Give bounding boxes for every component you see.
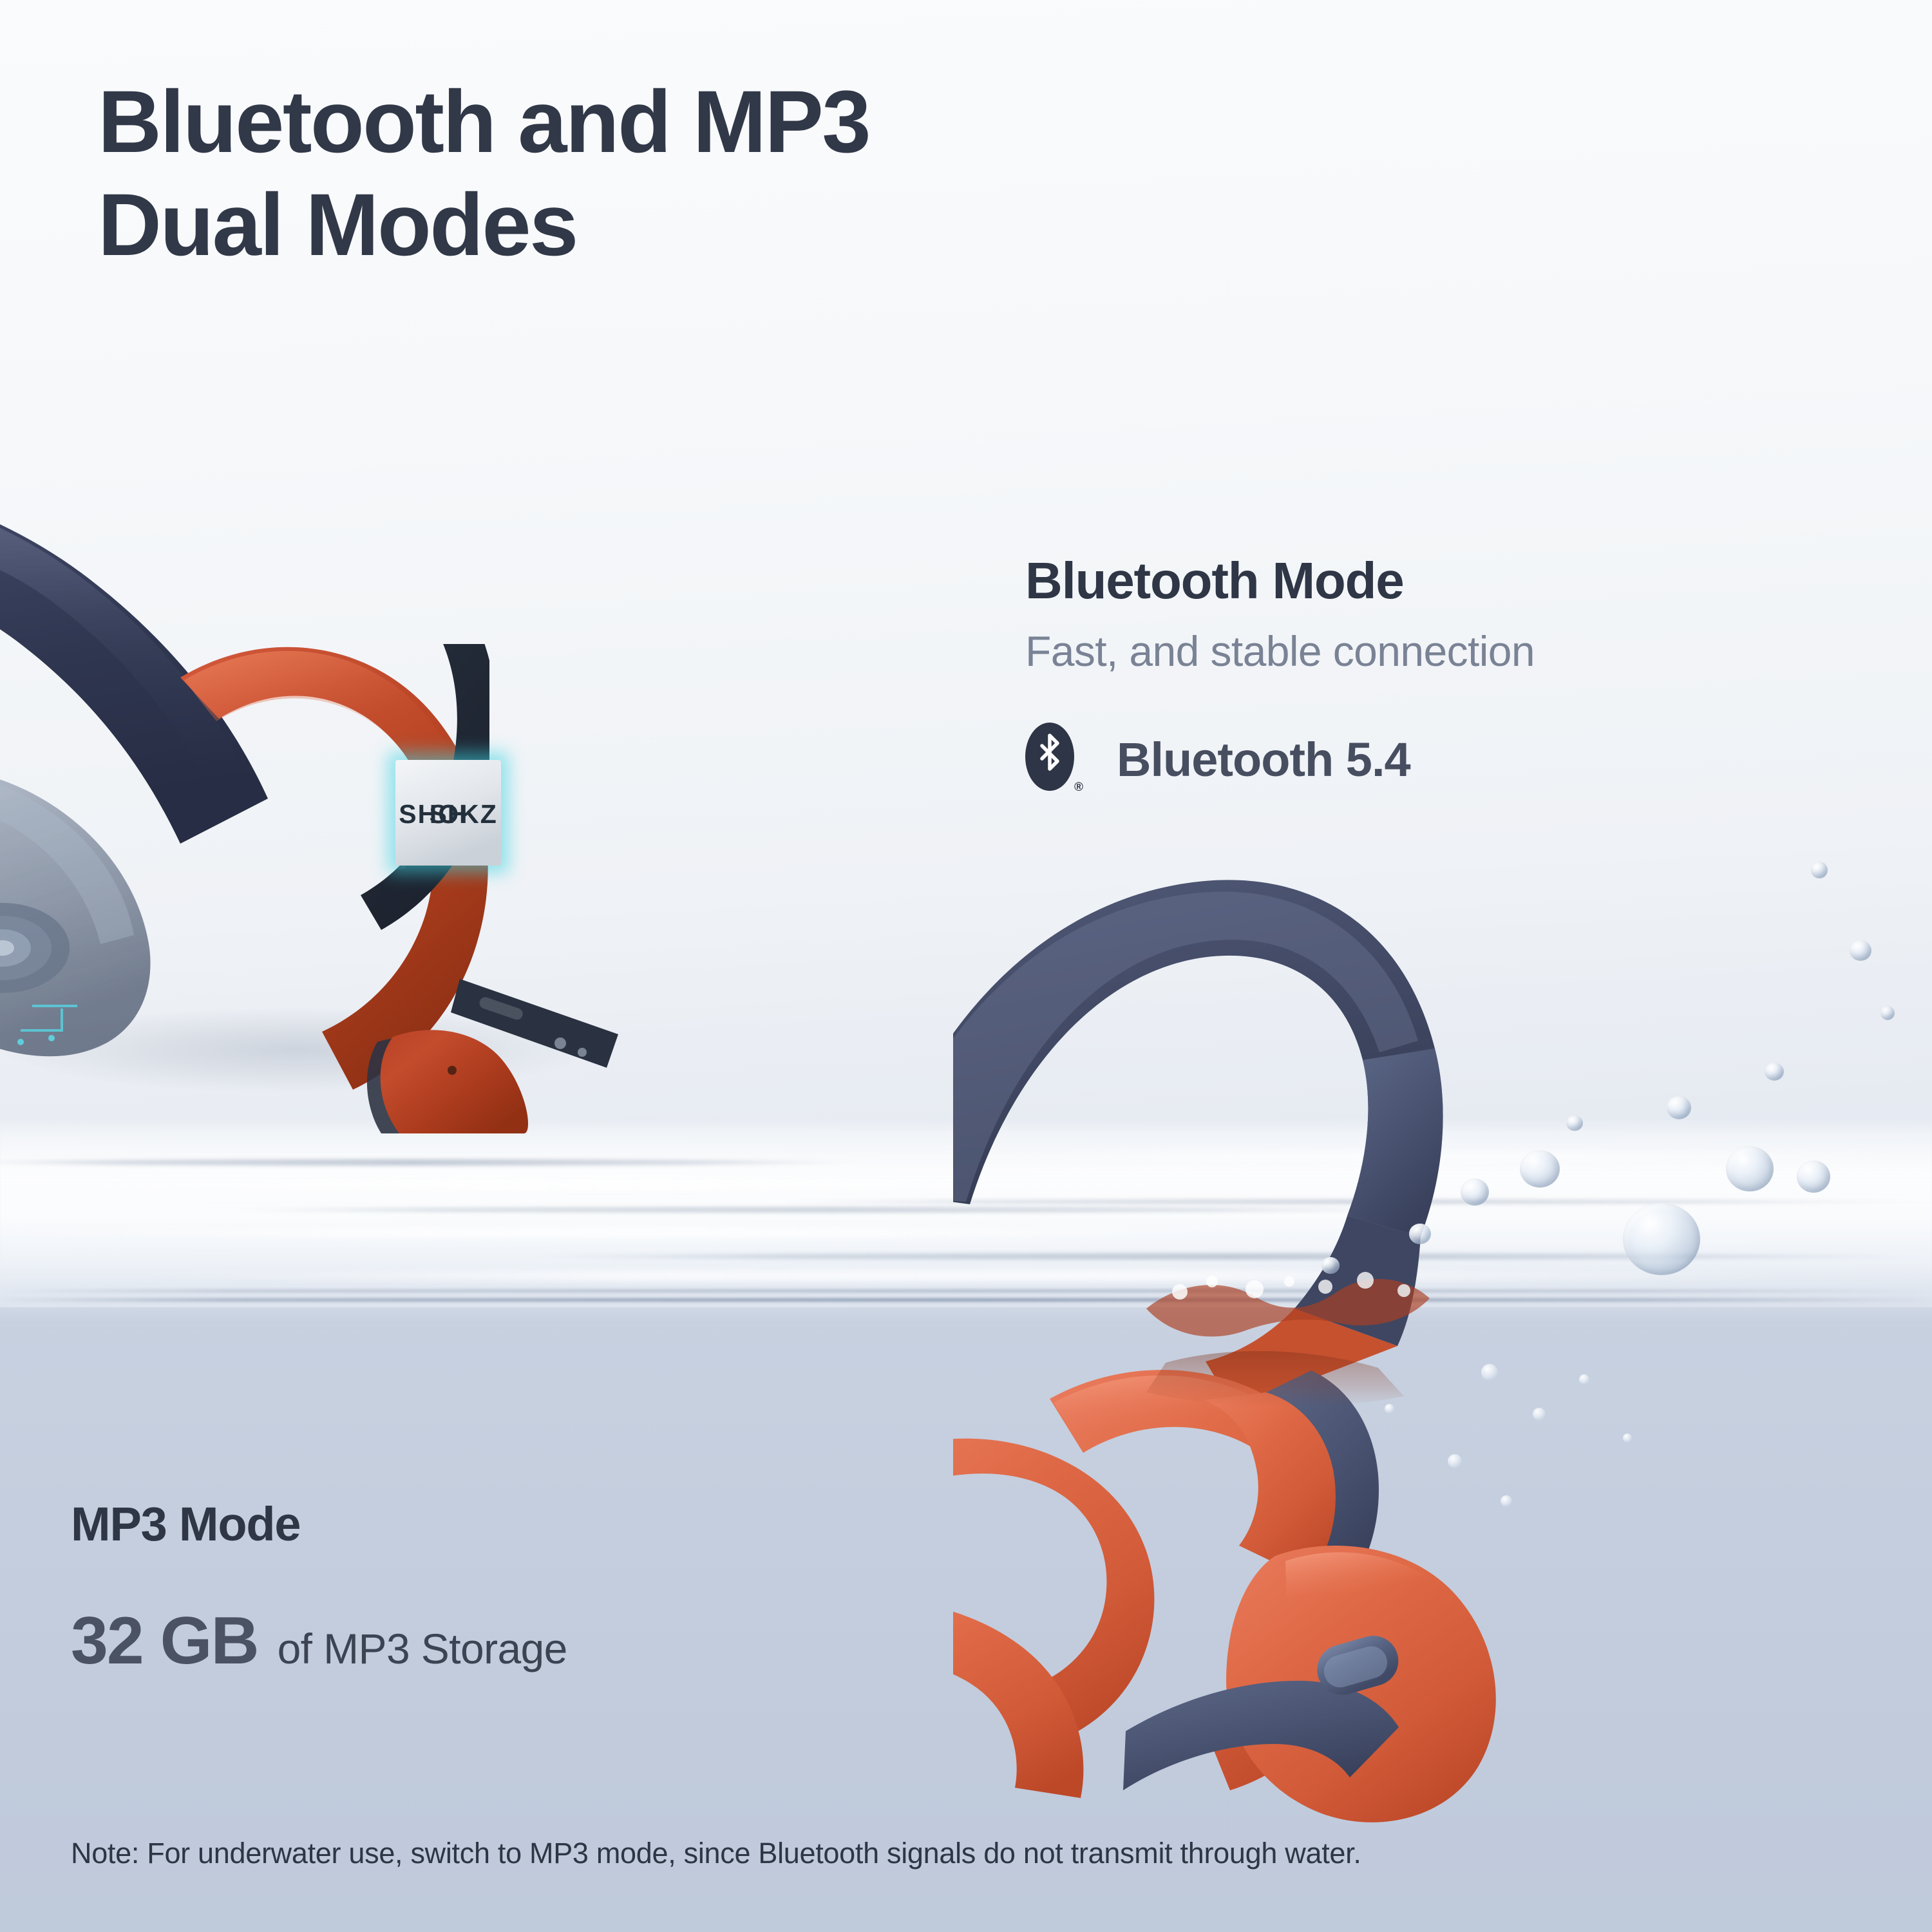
water-bubble	[1385, 1404, 1394, 1414]
bluetooth-mode-section: Bluetooth Mode Fast, and stable connecti…	[1025, 555, 1535, 797]
water-droplet	[1566, 1115, 1583, 1131]
product-feature-banner: Bluetooth and MP3 Dual Modes	[0, 0, 1932, 1932]
water-droplet	[1520, 1150, 1560, 1188]
bluetooth-icon: ®	[1025, 723, 1081, 797]
water-droplet	[1797, 1160, 1830, 1193]
water-droplet	[1623, 1203, 1700, 1275]
mp3-storage-suffix: of MP3 Storage	[278, 1627, 567, 1670]
mp3-storage-row: 32 GB of MP3 Storage	[71, 1607, 567, 1674]
bluetooth-version-row: ® Bluetooth 5.4	[1025, 723, 1535, 797]
water-droplet	[1726, 1146, 1774, 1191]
water-droplet	[1461, 1179, 1489, 1206]
water-droplet	[1880, 1006, 1895, 1020]
water-bubble	[1623, 1434, 1632, 1443]
footnote-text: Note: For underwater use, switch to MP3 …	[71, 1839, 1361, 1868]
water-bubble	[1448, 1454, 1462, 1468]
water-droplet	[1321, 1257, 1340, 1274]
mp3-mode-title: MP3 Mode	[71, 1501, 567, 1548]
water-bubble	[1501, 1495, 1512, 1507]
water-bubble	[1481, 1364, 1498, 1381]
water-droplet	[1811, 862, 1828, 878]
water-droplet	[1850, 940, 1871, 961]
svg-text:SHOKZ: SHOKZ	[399, 799, 498, 829]
bluetooth-mode-subtitle: Fast, and stable connection	[1025, 630, 1535, 672]
mp3-storage-capacity: 32 GB	[71, 1607, 258, 1674]
water-bubble	[1579, 1374, 1589, 1385]
water-droplet	[1765, 1063, 1784, 1081]
headphone-cutaway-illustration: SH SHOKZ SHOKZ	[0, 451, 863, 1133]
registered-mark: ®	[1074, 781, 1083, 793]
water-droplet	[1667, 1096, 1691, 1119]
water-droplet	[1409, 1224, 1431, 1244]
shokz-chip-logo: SH SHOKZ SHOKZ	[399, 799, 498, 829]
headphone-underwater-illustration	[953, 831, 1919, 1835]
water-bubble	[1533, 1408, 1546, 1421]
bluetooth-mode-title: Bluetooth Mode	[1025, 555, 1535, 607]
bluetooth-version-label: Bluetooth 5.4	[1117, 736, 1410, 784]
page-title: Bluetooth and MP3 Dual Modes	[98, 71, 869, 278]
mp3-mode-section: MP3 Mode 32 GB of MP3 Storage	[71, 1501, 567, 1674]
